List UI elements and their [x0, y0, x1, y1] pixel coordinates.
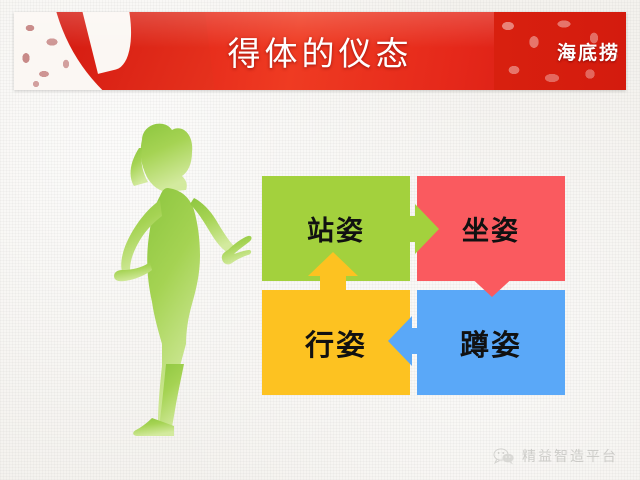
brand-logo-text: 海底捞 — [494, 12, 620, 90]
wechat-icon — [493, 447, 515, 465]
quadrant-label: 蹲姿 — [460, 322, 522, 364]
footer-watermark: 精益智造平台 — [493, 446, 618, 466]
quadrant-label: 坐姿 — [462, 209, 520, 248]
quadrant-squatting[interactable]: 蹲姿 — [417, 290, 565, 395]
arrow-up-walking-to-standing — [306, 250, 362, 300]
arrow-left-squatting-to-walking — [384, 314, 434, 370]
arrow-right-standing-to-sitting — [393, 200, 443, 258]
arrow-down-sitting-to-squatting — [465, 252, 521, 300]
header-banner: 得体的仪态 海底捞 — [14, 12, 626, 90]
footer-watermark-text: 精益智造平台 — [522, 446, 618, 466]
female-silhouette-illustration — [82, 118, 252, 436]
slide-canvas: 得体的仪态 海底捞 — [0, 0, 640, 480]
posture-cycle-diagram: 站姿 坐姿 行姿 蹲姿 — [262, 176, 565, 395]
quadrant-label: 站姿 — [307, 209, 365, 248]
brand-logo: 海底捞 — [494, 12, 626, 90]
quadrant-label: 行姿 — [305, 322, 367, 364]
